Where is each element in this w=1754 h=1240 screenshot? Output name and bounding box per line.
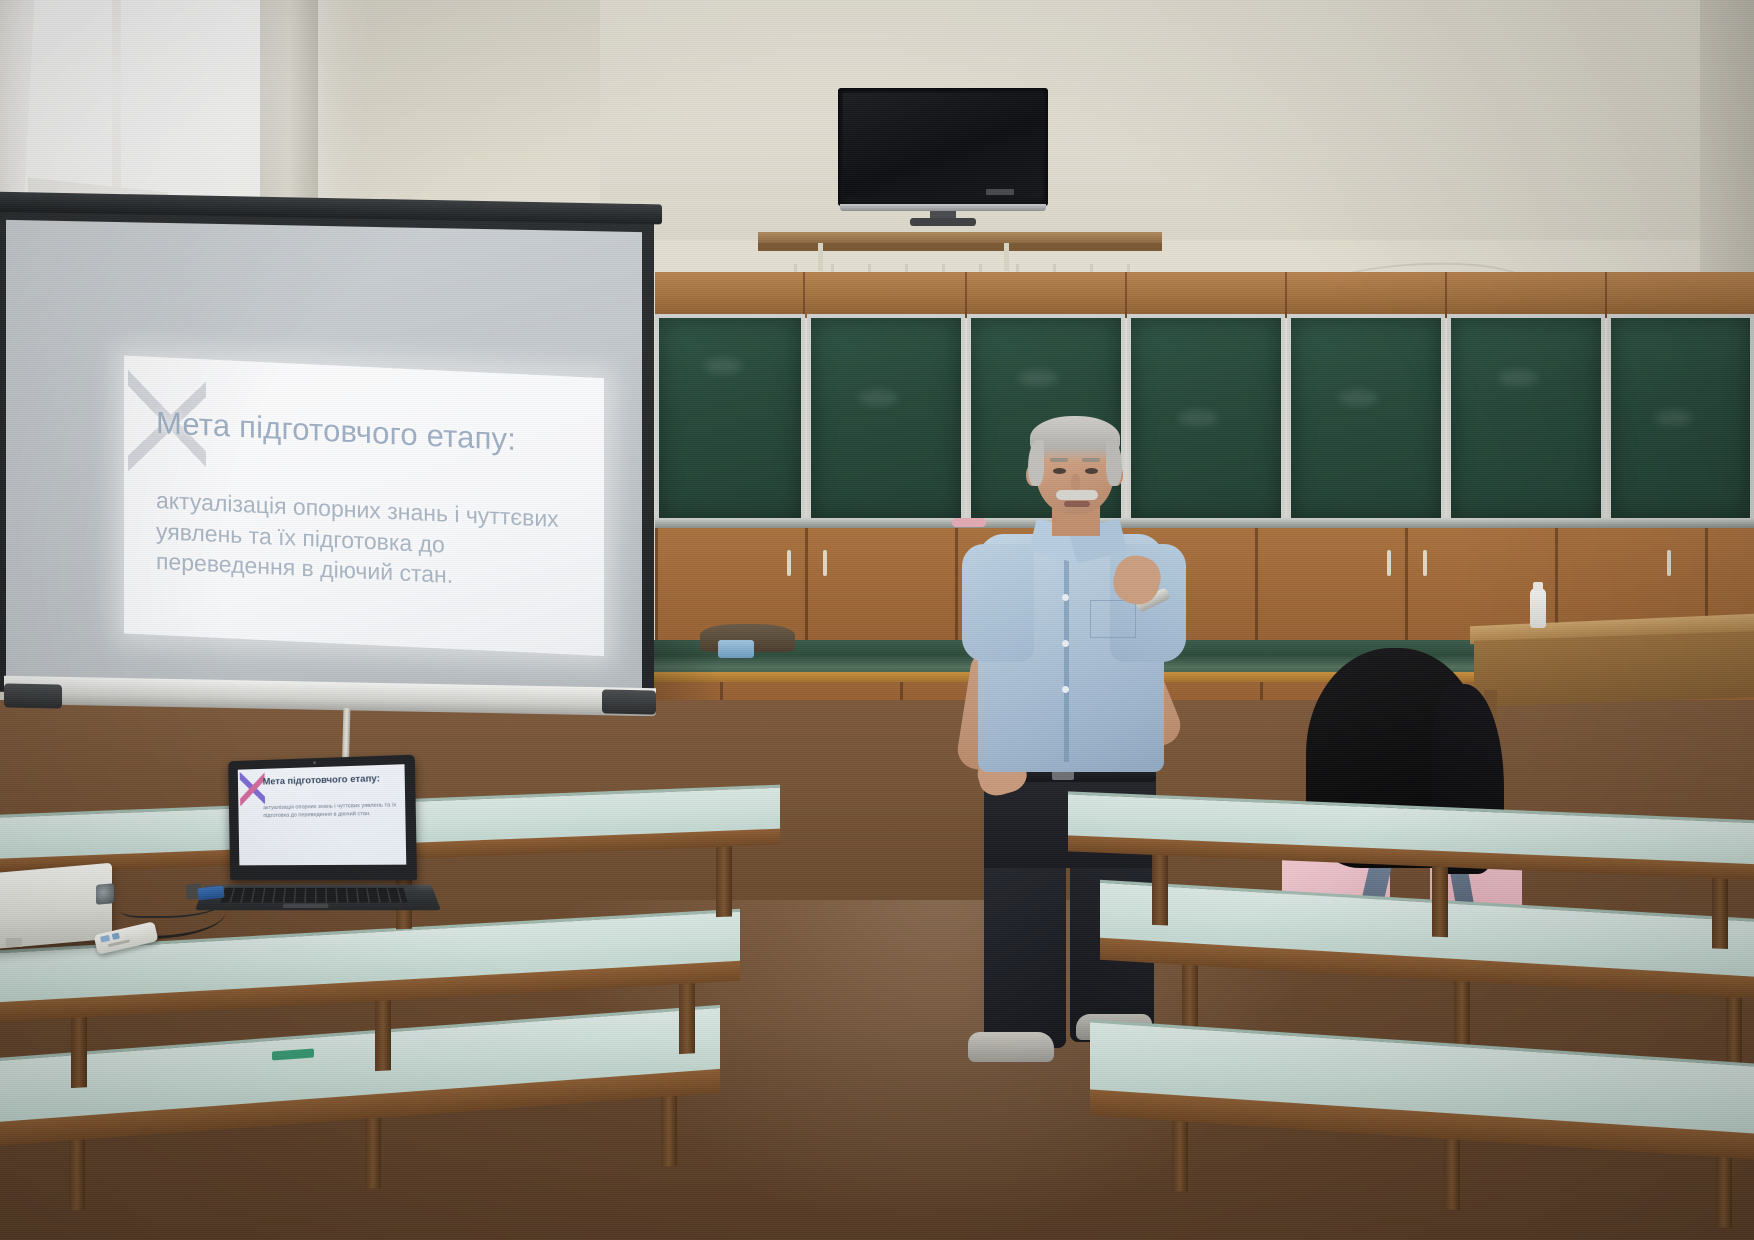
laptop-base[interactable] — [195, 885, 441, 910]
projector-foot — [6, 938, 22, 947]
desk-leg — [365, 1118, 381, 1189]
laptop-slide-title: Мета підготовчого етапу: — [263, 773, 399, 788]
laptop-touchpad[interactable] — [283, 903, 329, 907]
desk-leg — [71, 1017, 87, 1088]
laptop-lid: Мета підготовчого етапу: актуалізація оп… — [228, 755, 417, 880]
remote-button-row[interactable] — [108, 939, 130, 947]
remote-button[interactable] — [100, 935, 110, 943]
desk-leg — [716, 846, 732, 917]
projector-lens — [96, 883, 114, 905]
remote-button[interactable] — [112, 933, 120, 940]
laptop-slide-body: актуалізація опорних знань і чуттєвих уя… — [263, 801, 403, 820]
desk-leg — [1432, 867, 1448, 938]
desk-leg — [679, 983, 695, 1054]
desk-leg — [1454, 981, 1470, 1052]
classroom-scene: Мета підготовчого етапу: актуалізація оп… — [0, 0, 1754, 1240]
desk-leg — [69, 1139, 85, 1210]
laptop-slide-chevron-icon — [240, 772, 265, 806]
desk-leg — [1716, 1157, 1732, 1228]
laptop-keyboard[interactable] — [220, 888, 407, 903]
desk-leg — [1726, 997, 1742, 1068]
desk-leg — [375, 1000, 391, 1071]
desk-leg — [661, 1096, 677, 1167]
laptop-webcam-icon — [313, 761, 316, 764]
desk-leg — [1172, 1121, 1188, 1192]
desk-leg — [1444, 1139, 1460, 1210]
desk-leg — [1712, 878, 1728, 949]
desk-layer — [0, 0, 1754, 1240]
laptop-screen: Мета підготовчого етапу: актуалізація оп… — [238, 764, 407, 865]
desk-leg — [1152, 855, 1168, 926]
